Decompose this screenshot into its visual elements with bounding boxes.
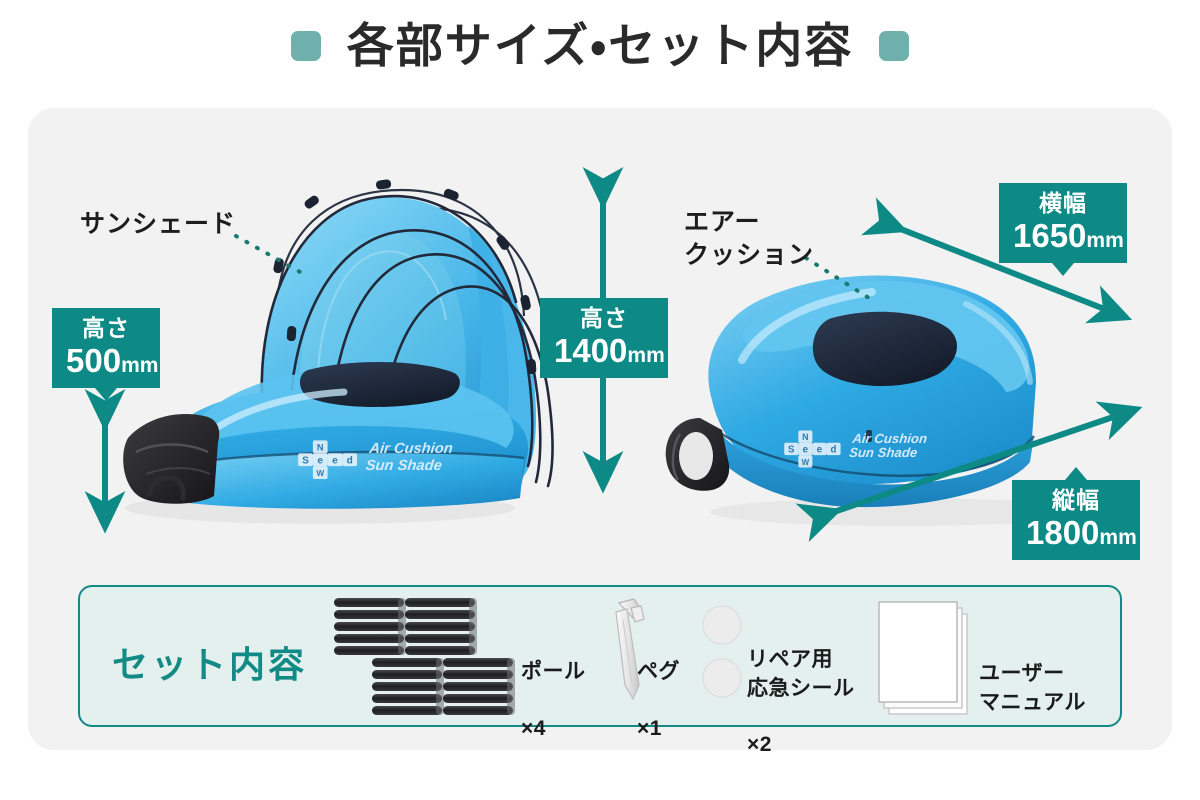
badge-value: 500mm [66, 344, 146, 377]
infographic-root: 各部サイズ・セット内容 [0, 0, 1200, 800]
badge-value: 1650mm [1013, 219, 1113, 252]
badge-caption: 縦幅 [1026, 489, 1126, 512]
badge-caption: 高さ [66, 317, 146, 340]
callout-air-cushion: エアー クッション [684, 206, 814, 272]
set-item-label-repair-seal: リペア用 応急シール ×2 [747, 618, 855, 760]
page-title-row: 各部サイズ・セット内容 [0, 22, 1200, 69]
badge-caption: 横幅 [1013, 192, 1113, 215]
set-item-qty: ×2 [747, 733, 772, 756]
badge-value: 1400mm [554, 334, 654, 367]
badge-tail-icon [1065, 467, 1087, 480]
set-item-name: ポール [521, 660, 586, 683]
set-item-name: ユーザー マニュアル [979, 662, 1086, 713]
set-item-label-peg: ペグ ×1 [637, 630, 680, 743]
badge-tail-icon [1052, 263, 1074, 276]
badge-value: 1800mm [1026, 516, 1126, 549]
callout-sunshade: サンシェード [80, 208, 236, 241]
page-title: 各部サイズ・セット内容 [347, 22, 854, 69]
set-item-label-pole: ポール ×4 [521, 630, 586, 743]
set-item-name: ペグ [637, 660, 680, 683]
badge-depth-1800: 縦幅 1800mm [1012, 480, 1140, 560]
badge-height-500: 高さ 500mm [52, 308, 160, 388]
badge-height-1400: 高さ 1400mm [540, 298, 668, 378]
set-item-qty: ×4 [521, 717, 546, 740]
title-square-left-icon [291, 31, 321, 61]
set-item-label-user-manual: ユーザー マニュアル [979, 632, 1086, 717]
badge-caption: 高さ [554, 307, 654, 330]
set-item-qty: ×1 [637, 717, 662, 740]
title-square-right-icon [879, 31, 909, 61]
badge-width-1650: 横幅 1650mm [999, 183, 1127, 263]
set-item-name: リペア用 応急シール [747, 648, 855, 699]
set-contents-heading: セット内容 [112, 636, 307, 688]
badge-tail-icon [95, 388, 117, 401]
